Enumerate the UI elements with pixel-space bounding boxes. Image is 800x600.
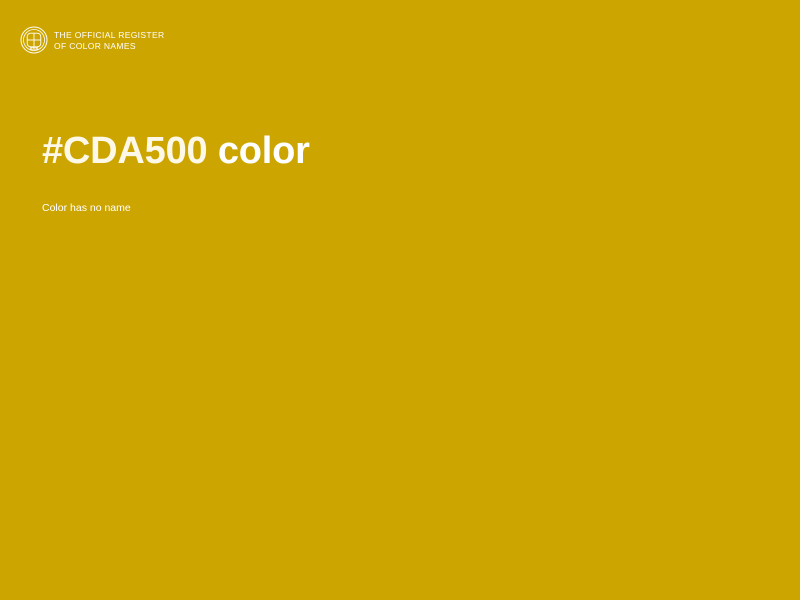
color-title-suffix: color xyxy=(218,130,310,172)
title-space xyxy=(207,130,217,172)
page-title: #CDA500 color xyxy=(42,128,742,174)
brand-line-2: OF COLOR NAMES xyxy=(54,41,164,52)
color-info: #CDA500 color Color has no name xyxy=(42,128,742,215)
brand-logo-link[interactable]: THE OFFICIAL REGISTER OF COLOR NAMES xyxy=(20,26,164,54)
color-name-status: Color has no name xyxy=(42,174,742,215)
register-seal-icon xyxy=(20,26,48,54)
color-hex-value: #CDA500 xyxy=(42,130,207,172)
color-page: THE OFFICIAL REGISTER OF COLOR NAMES #CD… xyxy=(0,0,800,600)
brand-text: THE OFFICIAL REGISTER OF COLOR NAMES xyxy=(54,30,164,51)
brand-line-1: THE OFFICIAL REGISTER xyxy=(54,30,164,41)
